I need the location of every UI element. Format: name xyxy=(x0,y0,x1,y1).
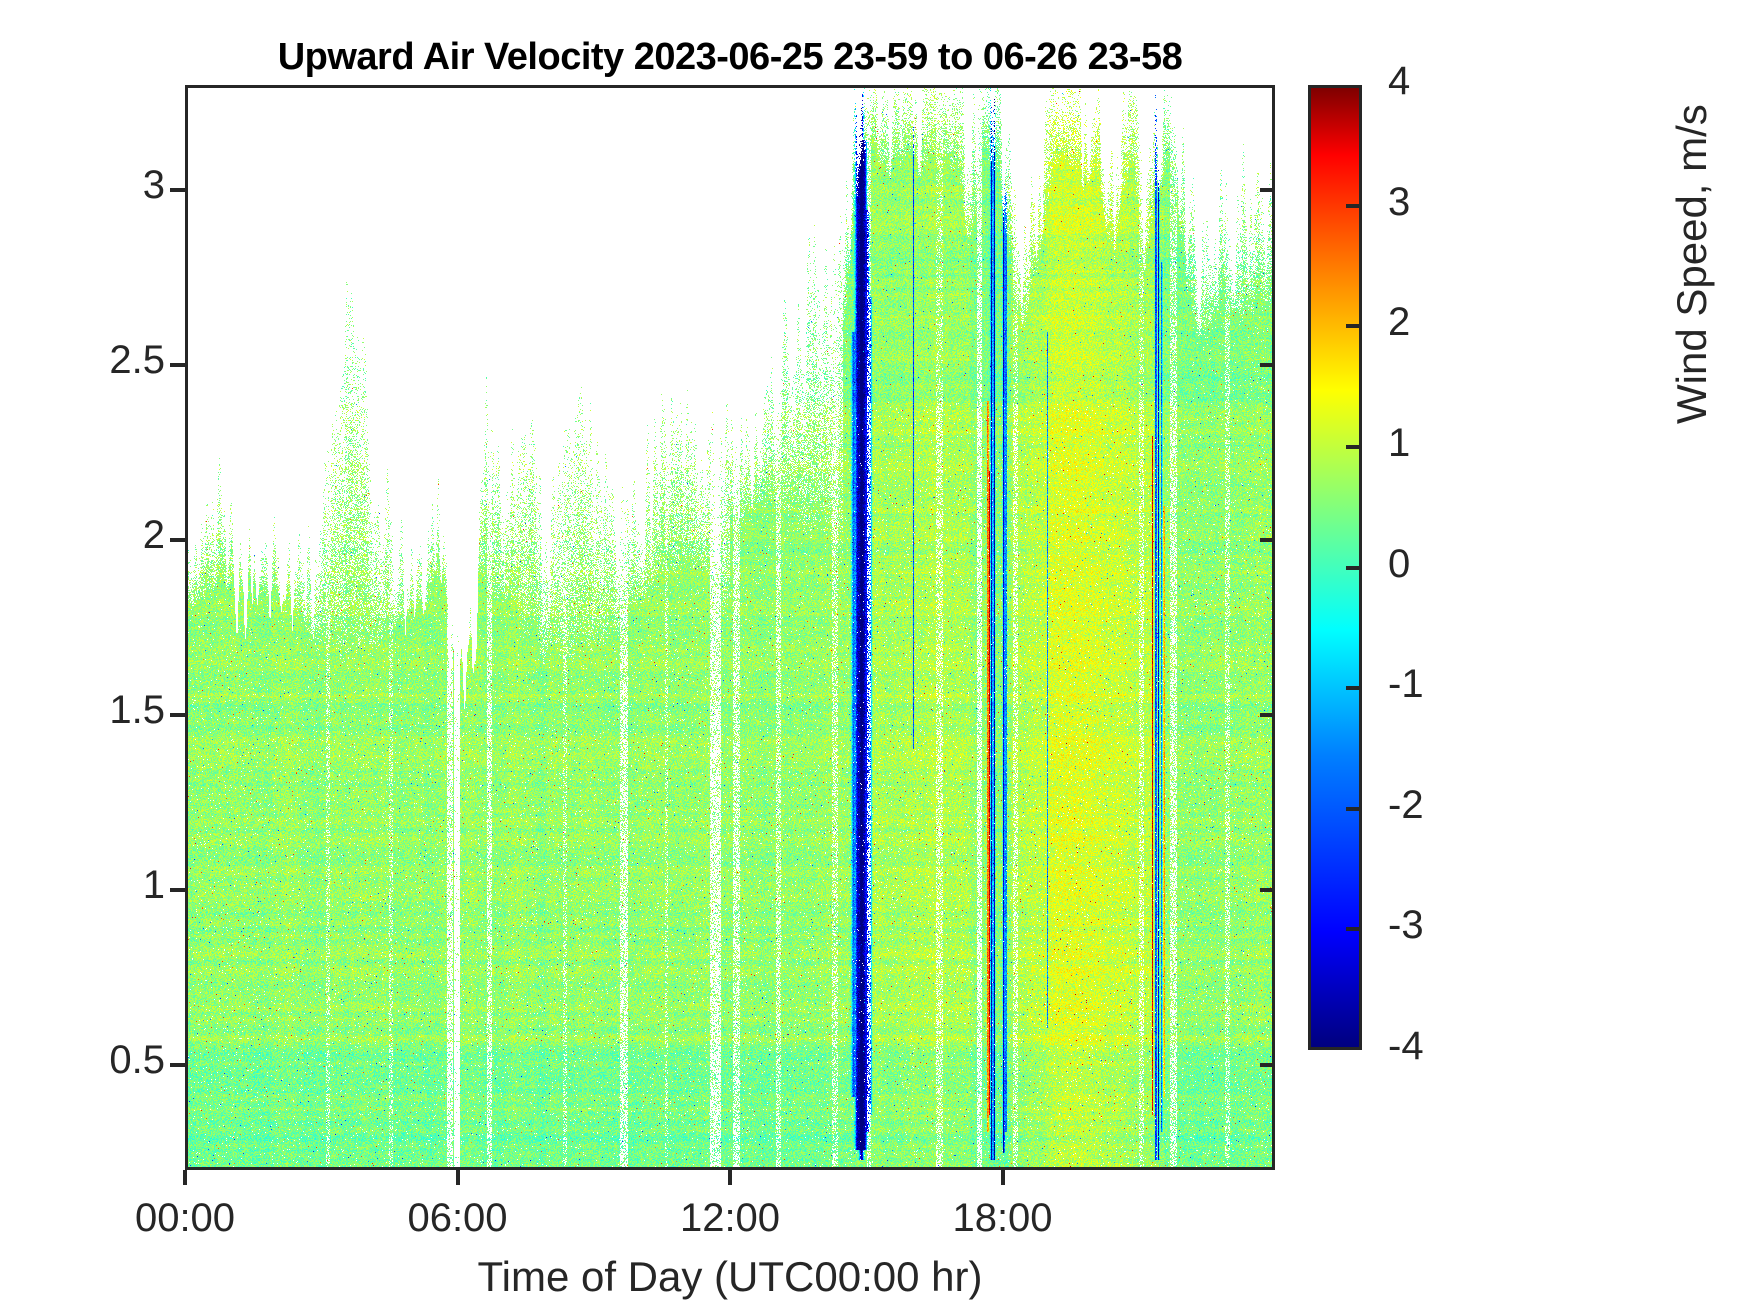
y-tick-mark xyxy=(170,888,185,892)
y-tick-mark-right xyxy=(1260,1063,1275,1067)
colorbar-tick-label: -4 xyxy=(1388,1024,1424,1069)
colorbar-tick-label: -3 xyxy=(1388,903,1424,948)
y-tick-mark xyxy=(170,713,185,717)
colorbar-tick-mark xyxy=(1346,807,1362,811)
y-tick-mark xyxy=(170,363,185,367)
plot-axes xyxy=(185,85,1275,1170)
x-tick-label: 18:00 xyxy=(952,1196,1052,1241)
y-tick-label: 3 xyxy=(5,163,165,208)
chart-title: Upward Air Velocity 2023-06-25 23-59 to … xyxy=(185,36,1275,79)
x-axis-label: Time of Day (UTC00:00 hr) xyxy=(185,1253,1275,1301)
y-tick-label: 1 xyxy=(5,863,165,908)
colorbar-tick-mark xyxy=(1346,324,1362,328)
colorbar-tick-label: 0 xyxy=(1388,542,1410,587)
colorbar-label: Wind Speed, m/s xyxy=(1668,104,1716,424)
colorbar-tick-mark xyxy=(1346,927,1362,931)
y-tick-label: 0.5 xyxy=(5,1038,165,1083)
colorbar-tick-label: -1 xyxy=(1388,662,1424,707)
colorbar-tick-mark xyxy=(1346,445,1362,449)
x-tick-label: 06:00 xyxy=(407,1196,507,1241)
colorbar-tick-mark xyxy=(1346,566,1362,570)
x-tick-mark xyxy=(728,1170,732,1185)
y-tick-mark-right xyxy=(1260,888,1275,892)
colorbar-container: -4-3-2-101234 xyxy=(1308,85,1362,1050)
x-tick-mark xyxy=(456,1170,460,1185)
colorbar-tick-mark xyxy=(1346,686,1362,690)
colorbar-tick-mark xyxy=(1346,204,1362,208)
y-tick-mark-right xyxy=(1260,363,1275,367)
y-tick-label: 2.5 xyxy=(5,338,165,383)
x-tick-mark xyxy=(183,1170,187,1185)
figure-canvas: Upward Air Velocity 2023-06-25 23-59 to … xyxy=(0,0,1750,1313)
heatmap-layer xyxy=(188,88,1272,1167)
y-tick-mark-right xyxy=(1260,713,1275,717)
x-tick-mark xyxy=(1001,1170,1005,1185)
colorbar-tick-label: -2 xyxy=(1388,783,1424,828)
colorbar-tick-label: 3 xyxy=(1388,180,1410,225)
y-tick-label: 1.5 xyxy=(5,688,165,733)
velocity-heatmap xyxy=(188,88,1272,1167)
y-tick-mark xyxy=(170,1063,185,1067)
colorbar-tick-label: 4 xyxy=(1388,59,1410,104)
colorbar-tick-label: 1 xyxy=(1388,421,1410,466)
x-tick-label: 12:00 xyxy=(680,1196,780,1241)
y-tick-mark xyxy=(170,188,185,192)
colorbar-tick-label: 2 xyxy=(1388,300,1410,345)
y-tick-mark xyxy=(170,538,185,542)
y-tick-mark-right xyxy=(1260,188,1275,192)
y-tick-label: 2 xyxy=(5,513,165,558)
x-tick-label: 00:00 xyxy=(135,1196,235,1241)
y-tick-mark-right xyxy=(1260,538,1275,542)
